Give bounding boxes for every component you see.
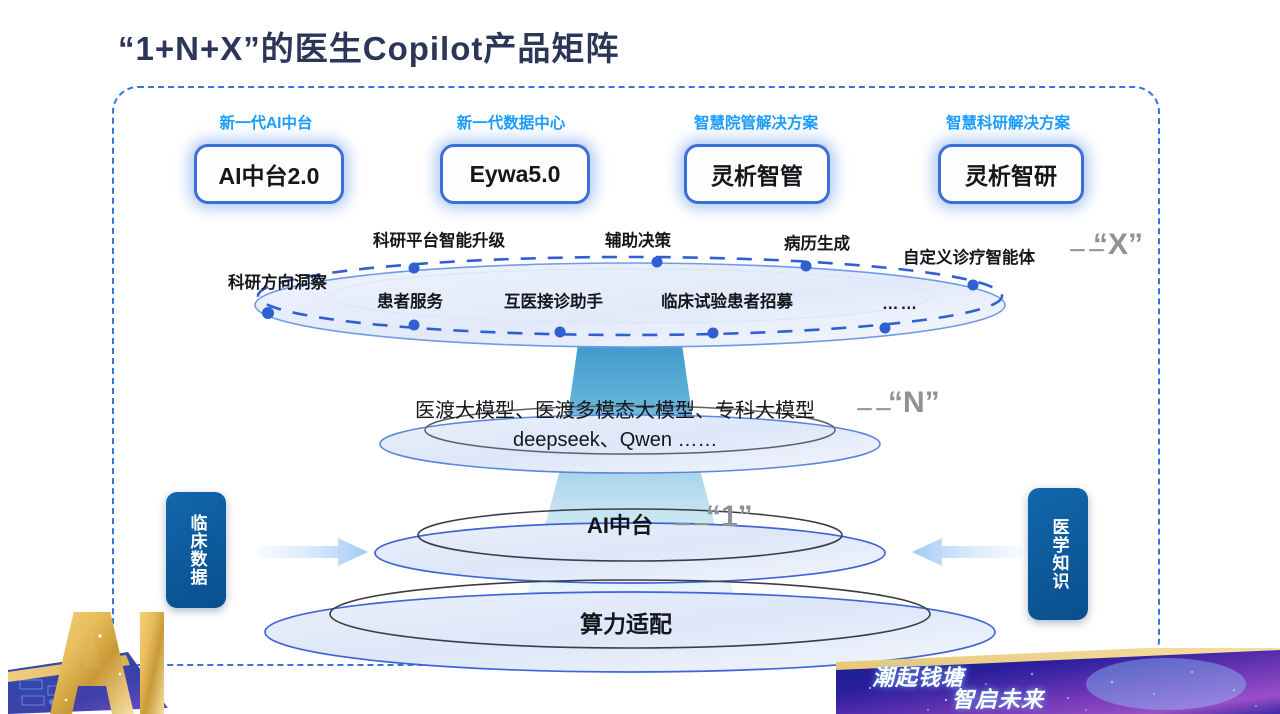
banner-line-1: 潮起钱塘 — [872, 660, 964, 692]
badge-clinical-data-label: 临床数据 — [185, 514, 208, 586]
product-card-eywa[interactable]: Eywa5.0 — [440, 144, 590, 204]
n-layer-line1: 医渡大模型、医渡多模态大模型、专科大模型 — [415, 394, 815, 423]
product-caption-1: 新一代AI中台 — [191, 111, 341, 133]
x-label-lower-3: 互医接诊助手 — [504, 288, 603, 312]
product-card-ai-zhongtai[interactable]: AI中台2.0 — [194, 144, 344, 204]
banner-line-2: 智启未来 — [952, 682, 1044, 714]
n-layer-line2: deepseek、Qwen …… — [513, 423, 718, 452]
x-tag: “X” — [1093, 228, 1143, 262]
product-caption-3: 智慧院管解决方案 — [668, 111, 844, 133]
slide-canvas: “1+N+X”的医生Copilot产品矩阵 — [0, 0, 1280, 714]
arrow-left-to-core — [258, 538, 368, 566]
one-tag: “1” — [706, 500, 753, 534]
n-tag: “N” — [888, 386, 940, 420]
product-caption-2: 新一代数据中心 — [431, 111, 591, 133]
x-label-lower-4: 临床试验患者招募 — [661, 288, 793, 312]
x-label-lower-1: 科研方向洞察 — [228, 269, 327, 293]
x-label-upper-4: 自定义诊疗智能体 — [903, 244, 1035, 268]
badge-clinical-data: 临床数据 — [166, 492, 226, 608]
x-ellipsis: …… — [882, 295, 919, 314]
product-caption-4: 智慧科研解决方案 — [920, 111, 1096, 133]
x-label-lower-2: 患者服务 — [377, 288, 443, 312]
product-card-lingxi-zhiguan[interactable]: 灵析智管 — [684, 144, 830, 204]
x-label-upper-3: 病历生成 — [784, 230, 850, 254]
one-layer-label: AI中台 — [587, 508, 653, 540]
arrow-right-to-core — [912, 538, 1022, 566]
gold-ai-logo — [8, 612, 198, 714]
badge-medical-knowledge-label: 医学知识 — [1047, 518, 1070, 590]
badge-medical-knowledge: 医学知识 — [1028, 488, 1088, 620]
product-card-lingxi-zhiyan[interactable]: 灵析智研 — [938, 144, 1084, 204]
x-label-upper-2: 辅助决策 — [605, 227, 671, 251]
x-label-upper-1: 科研平台智能升级 — [373, 227, 505, 251]
base-layer-label: 算力适配 — [580, 605, 672, 639]
